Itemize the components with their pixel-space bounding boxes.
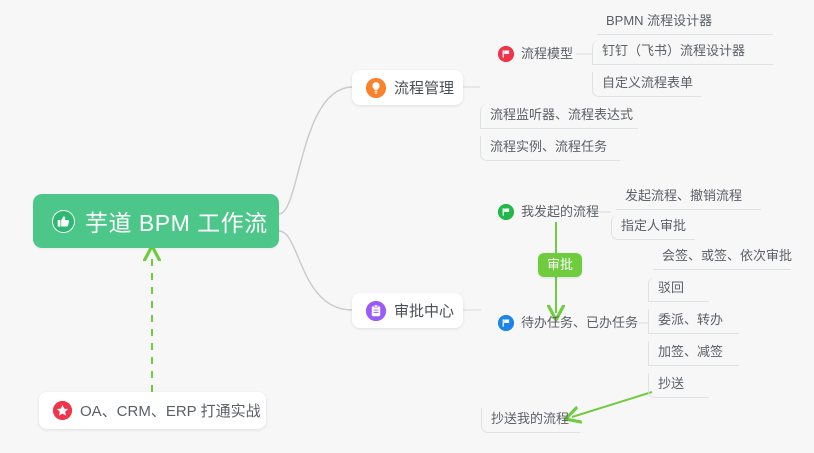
flag-icon-my-initiated-process (498, 204, 514, 220)
edge-root-to-approval-center (279, 231, 352, 310)
node-countersign-orsign-sequential[interactable]: 会签、或签、依次审批 (653, 245, 791, 270)
node-process-model[interactable]: 流程模型 (489, 43, 576, 67)
node-my-initiated-process[interactable]: 我发起的流程 (489, 201, 594, 225)
thumbs-up-icon (52, 210, 75, 233)
node-label-countersign-orsign-sequential: 会签、或签、依次审批 (662, 247, 792, 264)
node-process-listener-expression[interactable]: 流程监听器、流程表达式 (480, 104, 638, 129)
branch-node-approval-center[interactable]: 审批中心 (352, 293, 463, 328)
root-node[interactable]: 芋道 BPM 工作流 (33, 194, 279, 248)
node-label-reject: 驳回 (658, 279, 684, 296)
branch-label-process-management: 流程管理 (394, 77, 454, 98)
node-label-delegate-transfer: 委派、转办 (658, 311, 723, 328)
node-process-instance-task[interactable]: 流程实例、流程任务 (480, 136, 620, 161)
node-start-cancel-process[interactable]: 发起流程、撤销流程 (616, 185, 761, 210)
node-label-start-cancel-process: 发起流程、撤销流程 (625, 187, 742, 204)
lightbulb-icon (366, 78, 386, 98)
node-reject[interactable]: 驳回 (648, 277, 709, 302)
branch-label-approval-center: 审批中心 (394, 300, 454, 321)
approval-annotation-pill: 审批 (538, 253, 582, 277)
node-assignee-approval[interactable]: 指定人审批 (611, 215, 695, 240)
flag-icon-todo-done-tasks (498, 315, 514, 331)
node-label-my-initiated-process: 我发起的流程 (521, 203, 599, 220)
node-label-dingtalk-feishu-designer: 钉钉（飞书）流程设计器 (602, 42, 745, 59)
branch-node-process-management[interactable]: 流程管理 (352, 70, 463, 105)
clipboard-icon (366, 301, 386, 321)
node-dingtalk-feishu-designer[interactable]: 钉钉（飞书）流程设计器 (592, 40, 773, 65)
node-bpmn-designer[interactable]: BPMN 流程设计器 (597, 10, 773, 35)
node-label-process-instance-task: 流程实例、流程任务 (490, 138, 607, 155)
edge-root-to-process-management (279, 87, 352, 214)
node-custom-process-form[interactable]: 自定义流程表单 (592, 72, 701, 97)
arrow-cc-to-my-process (572, 392, 652, 417)
footer-node-integration-practice[interactable]: OA、CRM、ERP 打通实战 (39, 392, 266, 429)
node-cc[interactable]: 抄送 (648, 373, 709, 398)
node-label-assignee-approval: 指定人审批 (621, 217, 686, 234)
node-todo-done-tasks[interactable]: 待办任务、已办任务 (489, 312, 632, 336)
star-icon (53, 401, 72, 420)
node-cc-to-me-process[interactable]: 抄送我的流程 (481, 408, 580, 433)
node-label-add-remove-sign: 加签、减签 (658, 343, 723, 360)
root-node-label: 芋道 BPM 工作流 (85, 204, 268, 238)
mindmap-canvas: 芋道 BPM 工作流 流程管理 流程模型 BP (0, 0, 814, 453)
node-label-custom-process-form: 自定义流程表单 (602, 74, 693, 91)
node-add-remove-sign[interactable]: 加签、减签 (648, 341, 739, 366)
node-label-todo-done-tasks: 待办任务、已办任务 (521, 314, 638, 331)
node-label-cc: 抄送 (658, 375, 684, 392)
footer-node-label: OA、CRM、ERP 打通实战 (80, 400, 261, 421)
node-label-process-listener-expression: 流程监听器、流程表达式 (490, 106, 633, 123)
flag-icon-process-model (498, 46, 514, 62)
node-label-process-model: 流程模型 (521, 45, 573, 62)
node-label-cc-to-me-process: 抄送我的流程 (491, 410, 569, 427)
approval-annotation-label: 审批 (547, 257, 573, 272)
node-label-bpmn-designer: BPMN 流程设计器 (606, 12, 712, 29)
node-delegate-transfer[interactable]: 委派、转办 (648, 309, 739, 334)
